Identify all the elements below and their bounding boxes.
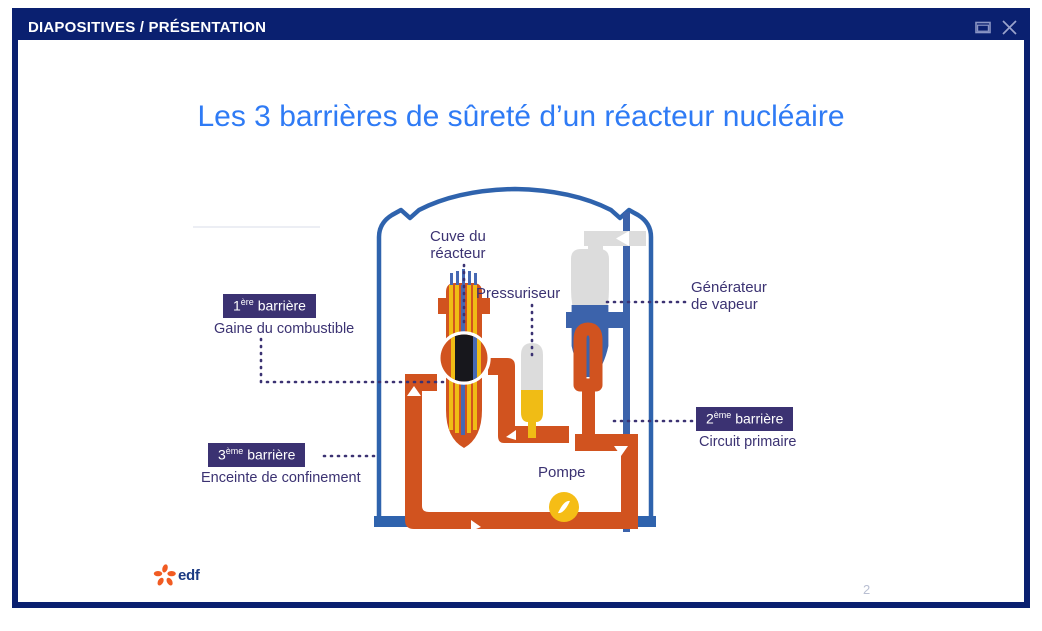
reactor-diagram: 1ère barrière Gaine du combustible 3ème …: [18, 40, 1024, 602]
steam-generator-label: Générateur de vapeur: [691, 280, 767, 314]
barrier-2-chip: 2ème barrière: [696, 407, 793, 431]
barrier-3-word: barrière: [247, 447, 295, 463]
restore-window-icon[interactable]: [974, 18, 992, 36]
vessel-label-line1: Cuve du: [430, 229, 486, 246]
presentation-viewer-window: DIAPOSITIVES / PRÉSENTATION Les 3 barriè…: [12, 8, 1030, 608]
pump-shape: [549, 492, 579, 522]
close-icon[interactable]: [1000, 18, 1018, 36]
barrier-3-number: 3: [218, 447, 226, 463]
vessel-label: Cuve du réacteur: [430, 229, 486, 263]
reactor-diagram-svg: [18, 40, 1036, 614]
barrier-3-chip: 3ème barrière: [208, 443, 305, 467]
barrier-2-ordinal: ème: [714, 410, 732, 420]
window-titlebar: DIAPOSITIVES / PRÉSENTATION: [18, 14, 1024, 40]
window-controls: [974, 18, 1018, 36]
slide-canvas: Les 3 barrières de sûreté d’un réacteur …: [18, 40, 1024, 602]
barrier-1-ordinal: ère: [241, 297, 254, 307]
edf-flower-icon: [152, 563, 178, 589]
steam-generator-label-line2: de vapeur: [691, 297, 767, 314]
fuel-cladding-zoom-shape: [439, 333, 489, 383]
barrier-1-sublabel: Gaine du combustible: [214, 321, 354, 337]
pressurizer-label: Pressuriseur: [476, 286, 560, 303]
edf-wordmark: edf: [178, 567, 200, 584]
edf-logo: edf: [152, 563, 210, 589]
barrier-3-ordinal: ème: [226, 446, 244, 456]
barrier-2-number: 2: [706, 411, 714, 427]
barrier-3-sublabel: Enceinte de confinement: [201, 470, 361, 486]
barrier-2-word: barrière: [735, 411, 783, 427]
pressurizer-shape: [521, 343, 543, 438]
window-title: DIAPOSITIVES / PRÉSENTATION: [28, 19, 266, 36]
steam-generator-label-line1: Générateur: [691, 280, 767, 297]
barrier-1-word: barrière: [258, 298, 306, 314]
vessel-label-line2: réacteur: [430, 246, 486, 263]
page-number: 2: [863, 582, 870, 597]
barrier-1-number: 1: [233, 298, 241, 314]
barrier-1-chip: 1ère barrière: [223, 294, 316, 318]
barrier-2-sublabel: Circuit primaire: [699, 434, 797, 450]
pump-label: Pompe: [538, 465, 586, 482]
